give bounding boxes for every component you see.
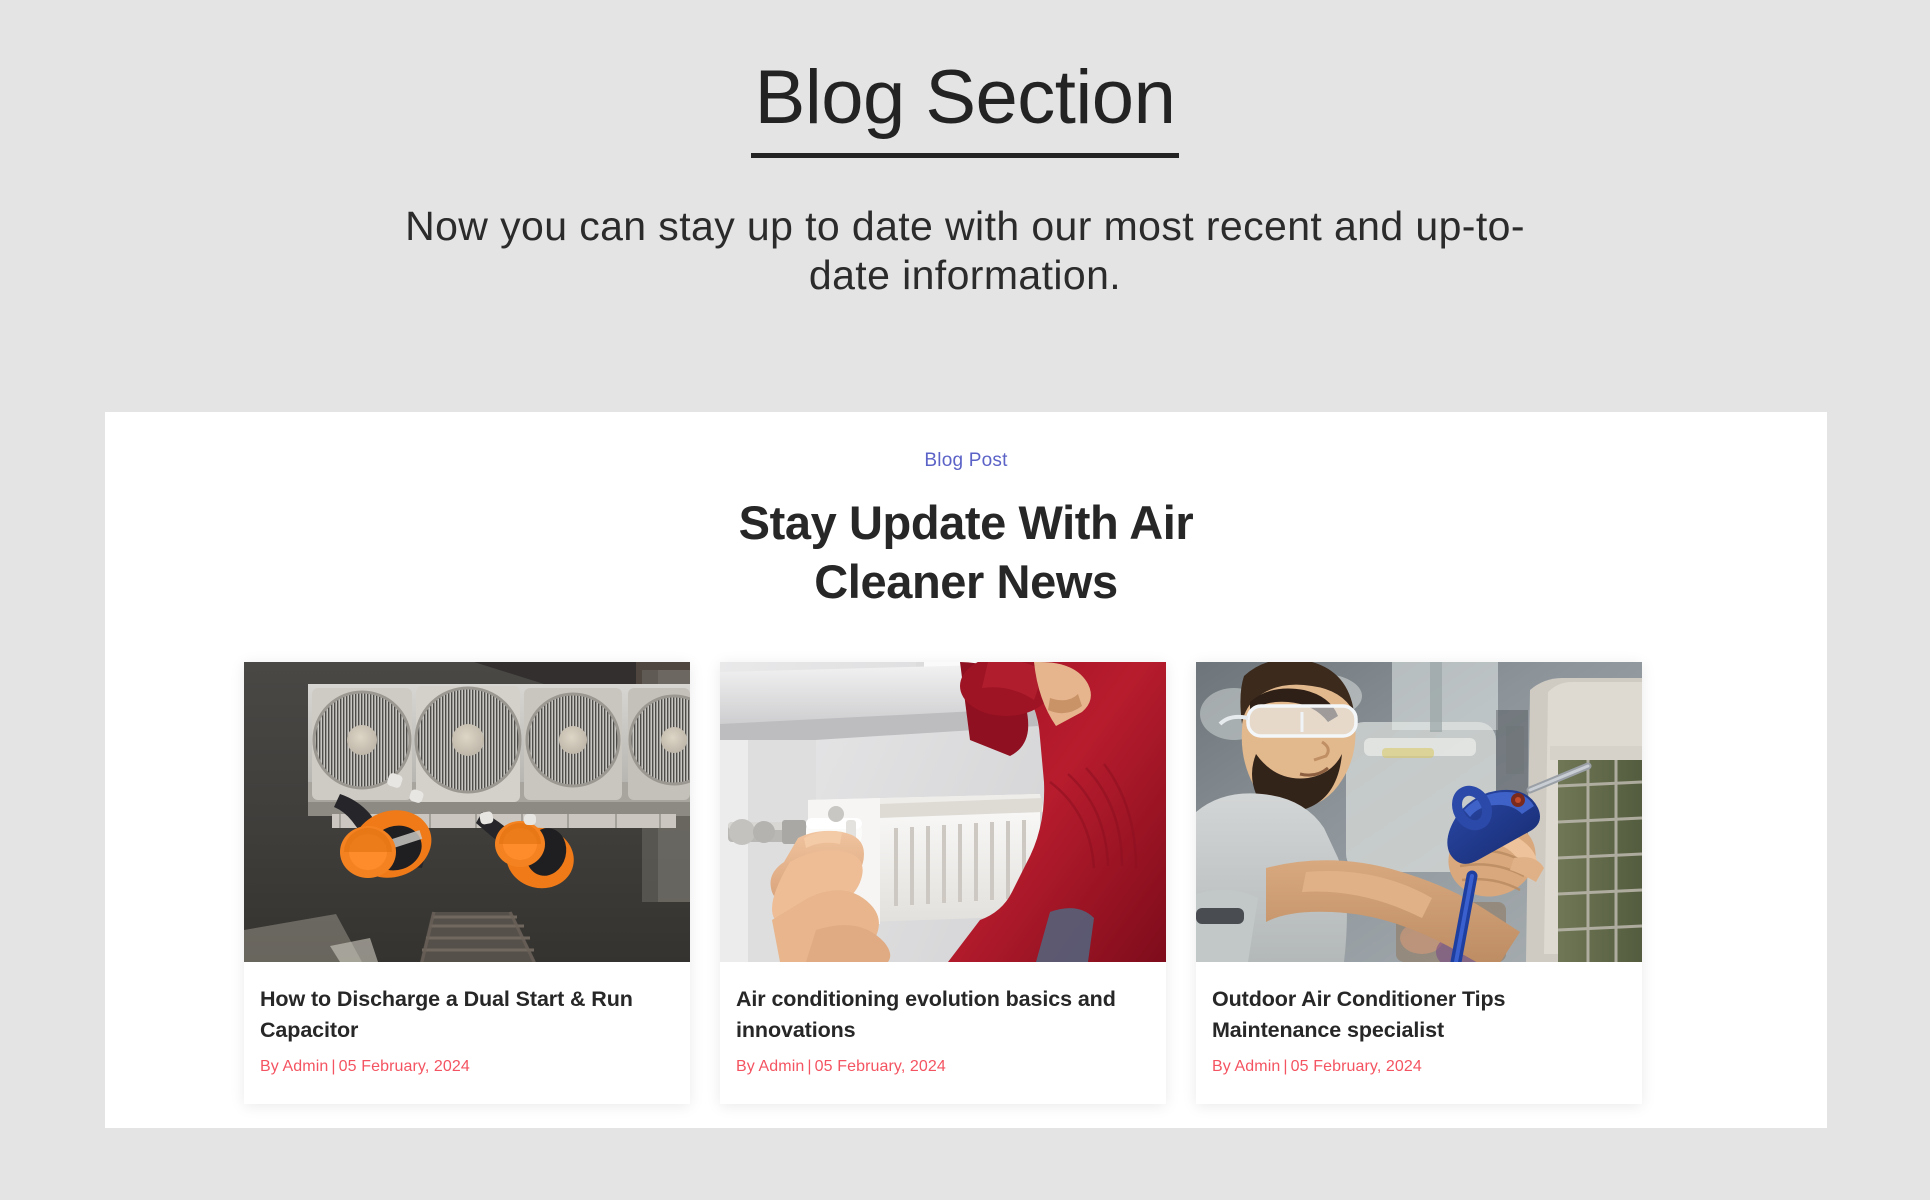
panel-title-line-1: Stay Update With Air xyxy=(739,496,1194,549)
card-title[interactable]: Outdoor Air Conditioner Tips Maintenance… xyxy=(1212,984,1626,1045)
card-date: 05 February, 2024 xyxy=(339,1058,470,1075)
card-meta-separator: | xyxy=(1280,1058,1290,1075)
card-body: How to Discharge a Dual Start & Run Capa… xyxy=(244,962,690,1104)
card-title[interactable]: How to Discharge a Dual Start & Run Capa… xyxy=(260,984,674,1045)
section-subtitle: Now you can stay up to date with our mos… xyxy=(365,202,1565,300)
card-meta: By Admin|05 February, 2024 xyxy=(1212,1057,1626,1078)
blog-section-page: Blog Section Now you can stay up to date… xyxy=(0,0,1930,1200)
card-meta-separator: | xyxy=(804,1058,814,1075)
card-body: Air conditioning evolution basics and in… xyxy=(720,962,1166,1104)
blog-card-list: How to Discharge a Dual Start & Run Capa… xyxy=(244,662,1642,1104)
card-title[interactable]: Air conditioning evolution basics and in… xyxy=(736,984,1150,1045)
card-image-hvac-rooftop-fans xyxy=(244,662,690,962)
blog-card[interactable]: How to Discharge a Dual Start & Run Capa… xyxy=(244,662,690,1104)
card-author: By Admin xyxy=(1212,1058,1280,1075)
card-date: 05 February, 2024 xyxy=(815,1058,946,1075)
card-image-technician-blow-gun xyxy=(1196,662,1642,962)
page-title: Blog Section xyxy=(751,58,1180,158)
card-meta: By Admin|05 February, 2024 xyxy=(260,1057,674,1078)
section-header: Blog Section Now you can stay up to date… xyxy=(0,0,1930,300)
card-author: By Admin xyxy=(736,1058,804,1075)
card-author: By Admin xyxy=(260,1058,328,1075)
card-body: Outdoor Air Conditioner Tips Maintenance… xyxy=(1196,962,1642,1104)
blog-post-eyebrow: Blog Post xyxy=(105,450,1827,472)
card-image-radiator-valve xyxy=(720,662,1166,962)
blog-card[interactable]: Outdoor Air Conditioner Tips Maintenance… xyxy=(1196,662,1642,1104)
panel-title-line-2: Cleaner News xyxy=(814,555,1117,608)
blog-card[interactable]: Air conditioning evolution basics and in… xyxy=(720,662,1166,1104)
card-date: 05 February, 2024 xyxy=(1291,1058,1422,1075)
panel-title: Stay Update With Air Cleaner News xyxy=(105,494,1827,612)
card-meta-separator: | xyxy=(328,1058,338,1075)
blog-panel: Blog Post Stay Update With Air Cleaner N… xyxy=(105,412,1827,1128)
card-meta: By Admin|05 February, 2024 xyxy=(736,1057,1150,1078)
